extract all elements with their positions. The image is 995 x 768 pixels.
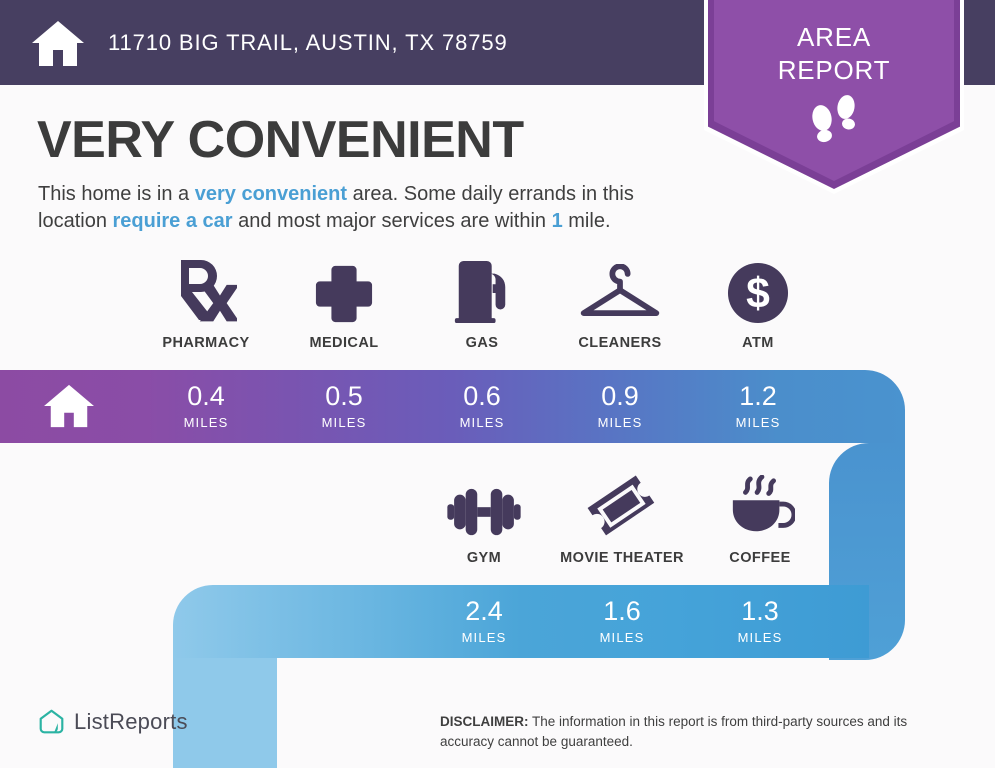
amenity-label: CLEANERS — [578, 335, 661, 351]
amenity-label: MEDICAL — [309, 335, 378, 351]
movie-ticket-icon — [587, 473, 657, 539]
amenity-atm: $ ATM — [689, 258, 827, 351]
blurb-part3: and most major services are within — [233, 210, 552, 232]
distance-unit: MILES — [598, 415, 643, 430]
listreports-logo: ListReports — [38, 708, 188, 735]
amenity-movie-theater: MOVIE THEATER — [553, 473, 691, 566]
listreports-house-icon — [38, 708, 65, 735]
listreports-logo-text: ListReports — [74, 709, 188, 735]
distance-cell-movie-theater: 1.6 MILES — [553, 585, 691, 657]
home-marker-cell — [0, 370, 137, 442]
gas-pump-icon — [451, 258, 513, 324]
disclaimer-label: DISCLAIMER: — [440, 714, 529, 729]
blurb-highlight1: very convenient — [195, 183, 347, 205]
summary-text: This home is in a very convenient area. … — [38, 181, 708, 235]
distance-value: 1.3 — [741, 598, 779, 625]
blurb-highlight3: 1 — [552, 210, 563, 232]
dollar-circle-icon: $ — [727, 258, 789, 324]
distance-cell-pharmacy: 0.4 MILES — [137, 370, 275, 442]
amenity-icons-row-1: PHARMACY MEDICAL GAS — [0, 258, 827, 351]
amenity-gym: GYM — [415, 473, 553, 566]
distance-value: 0.6 — [463, 383, 501, 410]
home-icon — [30, 17, 86, 69]
blurb-highlight2: require a car — [113, 210, 233, 232]
distance-unit: MILES — [322, 415, 367, 430]
distance-cell-gas: 0.6 MILES — [413, 370, 551, 442]
amenity-label: COFFEE — [729, 550, 790, 566]
amenity-medical: MEDICAL — [275, 258, 413, 351]
badge-body: AREA REPORT — [714, 0, 954, 181]
distance-unit: MILES — [600, 630, 645, 645]
page-title: VERY CONVENIENT — [37, 110, 524, 170]
disclaimer: DISCLAIMER: The information in this repo… — [440, 712, 960, 751]
distance-cell-medical: 0.5 MILES — [275, 370, 413, 442]
prescription-rx-icon — [175, 258, 237, 324]
blurb-part4: mile. — [563, 210, 611, 232]
dumbbell-icon — [445, 473, 523, 539]
distance-unit: MILES — [738, 630, 783, 645]
home-icon — [42, 382, 96, 430]
distance-value: 0.9 — [601, 383, 639, 410]
area-report-badge: AREA REPORT — [704, 0, 964, 194]
distance-value: 2.4 — [465, 598, 503, 625]
distance-cell-cleaners: 0.9 MILES — [551, 370, 689, 442]
amenity-coffee: COFFEE — [691, 473, 829, 566]
distance-unit: MILES — [736, 415, 781, 430]
blurb-part1: This home is in a — [38, 183, 195, 205]
distance-value: 1.2 — [739, 383, 777, 410]
distance-unit: MILES — [462, 630, 507, 645]
clothes-hanger-icon — [576, 258, 664, 324]
property-address: 11710 BIG TRAIL, AUSTIN, TX 78759 — [108, 30, 508, 56]
amenity-pharmacy: PHARMACY — [137, 258, 275, 351]
distance-value: 0.4 — [187, 383, 225, 410]
area-report-page: 11710 BIG TRAIL, AUSTIN, TX 78759 AREA R… — [0, 0, 995, 768]
distance-cell-atm: 1.2 MILES — [689, 370, 827, 442]
amenity-label: PHARMACY — [162, 335, 249, 351]
amenity-gas: GAS — [413, 258, 551, 351]
distance-cell-gym: 2.4 MILES — [415, 585, 553, 657]
amenity-label: GAS — [466, 335, 499, 351]
coffee-cup-icon — [725, 473, 795, 539]
distance-value: 0.5 — [325, 383, 363, 410]
distance-value: 1.6 — [603, 598, 641, 625]
amenity-cleaners: CLEANERS — [551, 258, 689, 351]
footprints-icon — [804, 94, 864, 155]
distance-unit: MILES — [184, 415, 229, 430]
amenity-label: GYM — [467, 550, 501, 566]
badge-title-line2: REPORT — [778, 55, 891, 86]
amenity-label: ATM — [742, 335, 774, 351]
distance-values-row-1: 0.4 MILES 0.5 MILES 0.6 MILES 0.9 MILES … — [137, 370, 827, 442]
svg-text:$: $ — [746, 270, 770, 318]
distance-cell-coffee: 1.3 MILES — [691, 585, 829, 657]
badge-title-line1: AREA — [797, 22, 871, 53]
distance-unit: MILES — [460, 415, 505, 430]
medical-cross-icon — [314, 258, 374, 324]
amenity-icons-row-2: GYM MOVIE THEATER — [415, 473, 829, 566]
distance-values-row-2: 2.4 MILES 1.6 MILES 1.3 MILES — [415, 585, 829, 657]
amenity-label: MOVIE THEATER — [560, 550, 684, 566]
